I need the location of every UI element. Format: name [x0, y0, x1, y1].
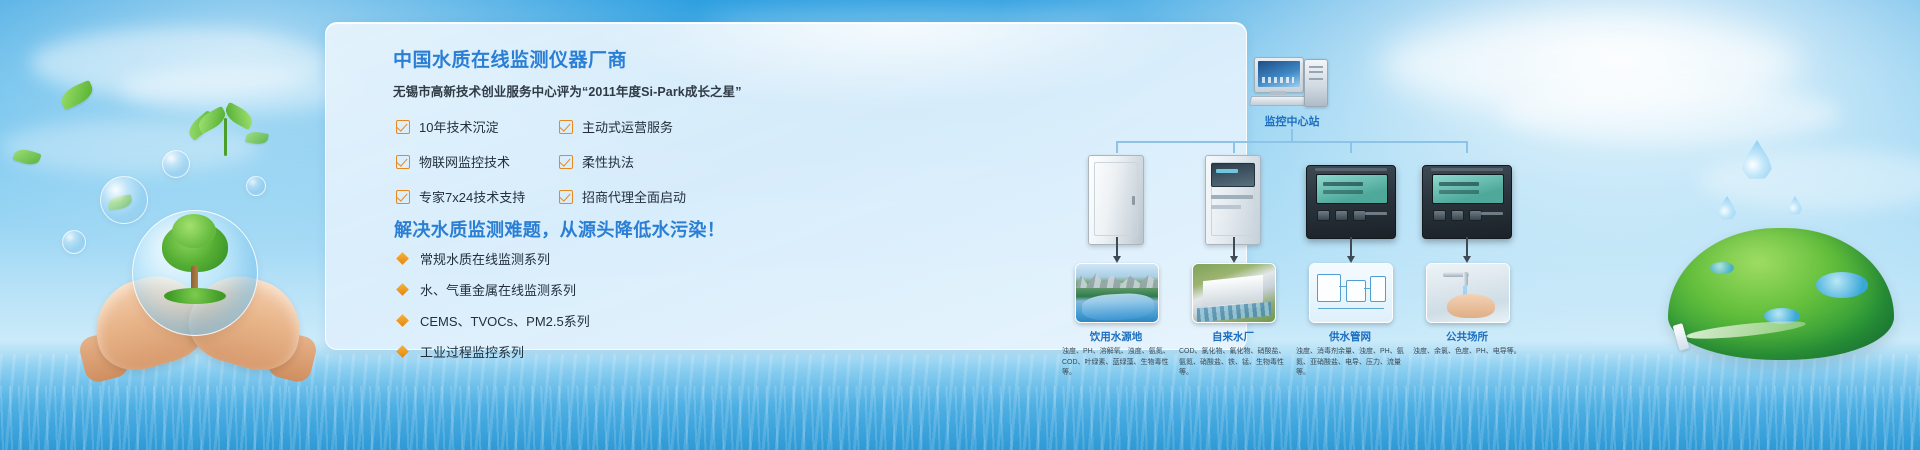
- list-item[interactable]: 常规水质在线监测系列: [398, 249, 590, 268]
- down-arrow-icon: [1466, 237, 1468, 257]
- diamond-bullet-icon: [396, 345, 409, 358]
- scenario-caption: 供水管网 浊度、消毒剂余量、浊度、PH、氨氮、亚硝酸盐、电导、压力、流量等。: [1296, 329, 1404, 379]
- checkbox-checked-icon: [396, 190, 410, 204]
- cloud-shape: [1500, 84, 1840, 144]
- checklist-item-label: 10年技术沉淀: [419, 117, 498, 136]
- list-item-label: 工业过程监控系列: [420, 342, 524, 361]
- scenario-caption: 饮用水源地 浊度、PH、溶解氧、浊度、氨氮、COD、叶绿素、蓝绿藻、生物毒性等。: [1062, 329, 1170, 379]
- list-item[interactable]: 工业过程监控系列: [398, 342, 590, 361]
- checklist-item-label: 专家7x24技术支持: [419, 187, 525, 206]
- checklist-item[interactable]: 物联网监控技术: [396, 152, 559, 171]
- scenario-description: COD、氯化物、氟化物、硝酸盐、氨氮、硝酸盐、铁、锰、生物毒性等。: [1179, 347, 1287, 379]
- checklist-item-label: 柔性执法: [582, 152, 634, 171]
- checkbox-checked-icon: [559, 155, 573, 169]
- monitoring-center-computer-icon: [1254, 57, 1330, 107]
- secondary-headline: 解决水质监测难题，从源头降低水污染！: [394, 216, 725, 242]
- scenario-caption: 自来水厂 COD、氯化物、氟化物、硝酸盐、氨氮、硝酸盐、铁、锰、生物毒性等。: [1179, 329, 1287, 379]
- monitoring-system-diagram: 监控中心站: [1066, 41, 1526, 371]
- page-title: 中国水质在线监测仪器厂商: [393, 45, 773, 72]
- monitoring-center-label: 监控中心站: [1236, 113, 1348, 129]
- checklist-row: 专家7x24技术支持 招商代理全面启动: [396, 187, 726, 206]
- list-item[interactable]: CEMS、TVOCs、PM2.5系列: [398, 311, 590, 330]
- faucet-hand-photo[interactable]: [1426, 263, 1510, 323]
- checkbox-checked-icon: [559, 190, 573, 204]
- checklist-row: 物联网监控技术 柔性执法: [396, 152, 726, 171]
- river-mountain-photo[interactable]: [1075, 263, 1159, 323]
- checklist-item-label: 物联网监控技术: [419, 152, 510, 171]
- tree-icon: [160, 222, 230, 306]
- down-arrow-icon: [1116, 237, 1118, 257]
- list-item-label: 水、气重金属在线监测系列: [420, 280, 576, 299]
- cloud-shape: [1700, 150, 1920, 210]
- scenario-title: 公共场所: [1413, 329, 1521, 344]
- scenario-caption: 公共场所 浊度、余氯、色度、PH、电导等。: [1413, 329, 1521, 358]
- product-series-list: 常规水质在线监测系列 水、气重金属在线监测系列 CEMS、TVOCs、PM2.5…: [398, 249, 590, 373]
- pipe-network-diagram-photo[interactable]: [1309, 263, 1393, 323]
- checkbox-checked-icon: [396, 155, 410, 169]
- checklist-item[interactable]: 主动式运营服务: [559, 117, 722, 136]
- diamond-bullet-icon: [396, 252, 409, 265]
- down-arrow-icon: [1233, 237, 1235, 257]
- green-earth-illustration: [1668, 228, 1894, 360]
- device-panel-controller[interactable]: [1306, 165, 1396, 239]
- down-arrow-icon: [1350, 237, 1352, 257]
- page-subtitle: 无锡市高新技术创业服务中心评为“2011年度Si-Park成长之星”: [393, 81, 773, 100]
- scenario-description: 浊度、PH、溶解氧、浊度、氨氮、COD、叶绿素、蓝绿藻、生物毒性等。: [1062, 347, 1170, 379]
- feature-checklist: 10年技术沉淀 主动式运营服务 物联网监控技术 柔性执法: [396, 117, 726, 222]
- water-sparkle: [0, 386, 1920, 450]
- list-item[interactable]: 水、气重金属在线监测系列: [398, 280, 590, 299]
- device-rack-analyzer[interactable]: [1191, 151, 1275, 247]
- device-panel-controller[interactable]: [1422, 165, 1512, 239]
- checklist-item-label: 主动式运营服务: [582, 117, 673, 136]
- scenario-title: 自来水厂: [1179, 329, 1287, 344]
- headline-block: 中国水质在线监测仪器厂商 无锡市高新技术创业服务中心评为“2011年度Si-Pa…: [393, 45, 773, 100]
- connector-line: [1116, 141, 1466, 143]
- device-row: [1066, 151, 1526, 251]
- checkbox-checked-icon: [559, 120, 573, 134]
- connector-line: [1291, 129, 1293, 141]
- checkbox-checked-icon: [396, 120, 410, 134]
- hands-holding-tree-illustration: [74, 206, 324, 386]
- checklist-item[interactable]: 招商代理全面启动: [559, 187, 722, 206]
- scenario-description: 浊度、余氯、色度、PH、电导等。: [1413, 347, 1521, 358]
- checklist-item[interactable]: 专家7x24技术支持: [396, 187, 559, 206]
- bubble-icon: [246, 176, 266, 196]
- list-item-label: CEMS、TVOCs、PM2.5系列: [420, 311, 590, 330]
- scenario-title: 供水管网: [1296, 329, 1404, 344]
- checklist-item[interactable]: 10年技术沉淀: [396, 117, 559, 136]
- checklist-item-label: 招商代理全面启动: [582, 187, 686, 206]
- checklist-item[interactable]: 柔性执法: [559, 152, 722, 171]
- banner-root: 中国水质在线监测仪器厂商 无锡市高新技术创业服务中心评为“2011年度Si-Pa…: [0, 0, 1920, 450]
- bubble-icon: [162, 150, 190, 178]
- sprout-icon: [196, 104, 256, 156]
- checklist-row: 10年技术沉淀 主动式运营服务: [396, 117, 726, 136]
- list-item-label: 常规水质在线监测系列: [420, 249, 550, 268]
- scenario-title: 饮用水源地: [1062, 329, 1170, 344]
- diamond-bullet-icon: [396, 314, 409, 327]
- diamond-bullet-icon: [396, 283, 409, 296]
- scenario-description: 浊度、消毒剂余量、浊度、PH、氨氮、亚硝酸盐、电导、压力、流量等。: [1296, 347, 1404, 379]
- content-panel: 中国水质在线监测仪器厂商 无锡市高新技术创业服务中心评为“2011年度Si-Pa…: [325, 22, 1247, 350]
- device-cabinet-analyzer[interactable]: [1074, 151, 1158, 247]
- water-plant-photo[interactable]: [1192, 263, 1276, 323]
